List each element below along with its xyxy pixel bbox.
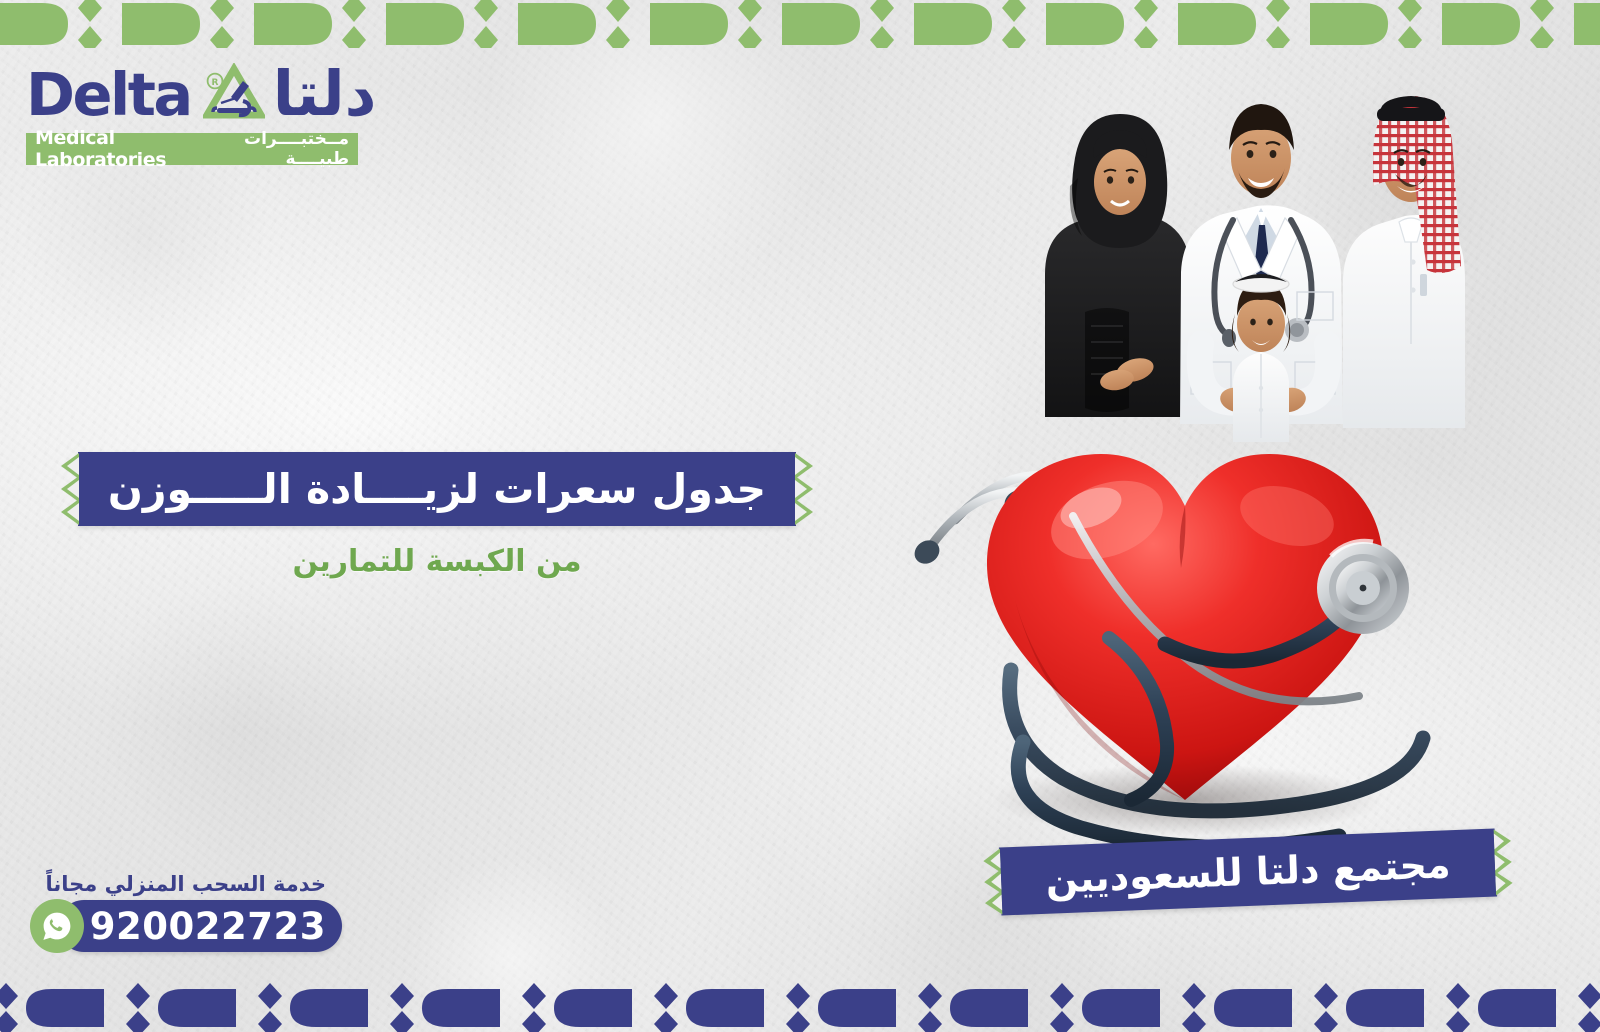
brand-logo[interactable]: Delta R دلتا Medical Laboratories مــ xyxy=(26,58,376,165)
phone-number: 920022723 xyxy=(90,908,326,945)
whatsapp-icon[interactable] xyxy=(30,899,84,953)
phone-pill[interactable]: 920022723 xyxy=(58,900,342,952)
community-right-ornament xyxy=(1494,828,1518,897)
svg-text:R: R xyxy=(211,78,218,88)
poster-canvas: Delta R دلتا Medical Laboratories مــ xyxy=(0,0,1600,1032)
headline-subtitle: من الكبسة للتمارين xyxy=(78,544,796,579)
banner-right-ornament xyxy=(795,452,817,526)
bottom-border-units xyxy=(0,983,1600,1032)
whatsapp-glyph xyxy=(40,909,74,943)
logo-latin-name: Delta xyxy=(26,65,191,124)
logo-row: Delta R دلتا xyxy=(26,58,376,130)
logo-tagline-ar: مــختبــــرات طبيــــة xyxy=(217,129,349,169)
top-border-pattern xyxy=(0,0,1600,48)
microscope-in-triangle-icon: R xyxy=(203,63,265,125)
community-left-ornament xyxy=(979,848,1003,917)
logo-tagline-bar: Medical Laboratories مــختبــــرات طبيــ… xyxy=(26,133,358,165)
top-border-units xyxy=(0,0,1600,48)
phone-row[interactable]: 920022723 xyxy=(30,900,342,952)
home-collection-note: خدمة السحب المنزلي مجاناً xyxy=(30,872,330,896)
contact-block: خدمة السحب المنزلي مجاناً 920022723 xyxy=(30,872,342,952)
headline-block: جدول سعرات لزيــــادة الـــــوزن من الكب… xyxy=(78,452,796,579)
registered-trademark-icon: R xyxy=(207,74,222,89)
logo-tagline-en: Medical Laboratories xyxy=(35,127,199,171)
headline-title: جدول سعرات لزيــــادة الـــــوزن xyxy=(108,469,766,510)
banner-left-ornament xyxy=(57,452,79,526)
headline-banner: جدول سعرات لزيــــادة الـــــوزن xyxy=(78,452,796,526)
bottom-border-pattern xyxy=(0,975,1600,1032)
stethoscope-chestpiece xyxy=(1317,541,1409,634)
community-label: مجتمع دلتا للسعوديين xyxy=(1045,845,1451,899)
heart-illustration xyxy=(895,370,1475,850)
logo-arabic-name: دلتا xyxy=(273,63,377,125)
